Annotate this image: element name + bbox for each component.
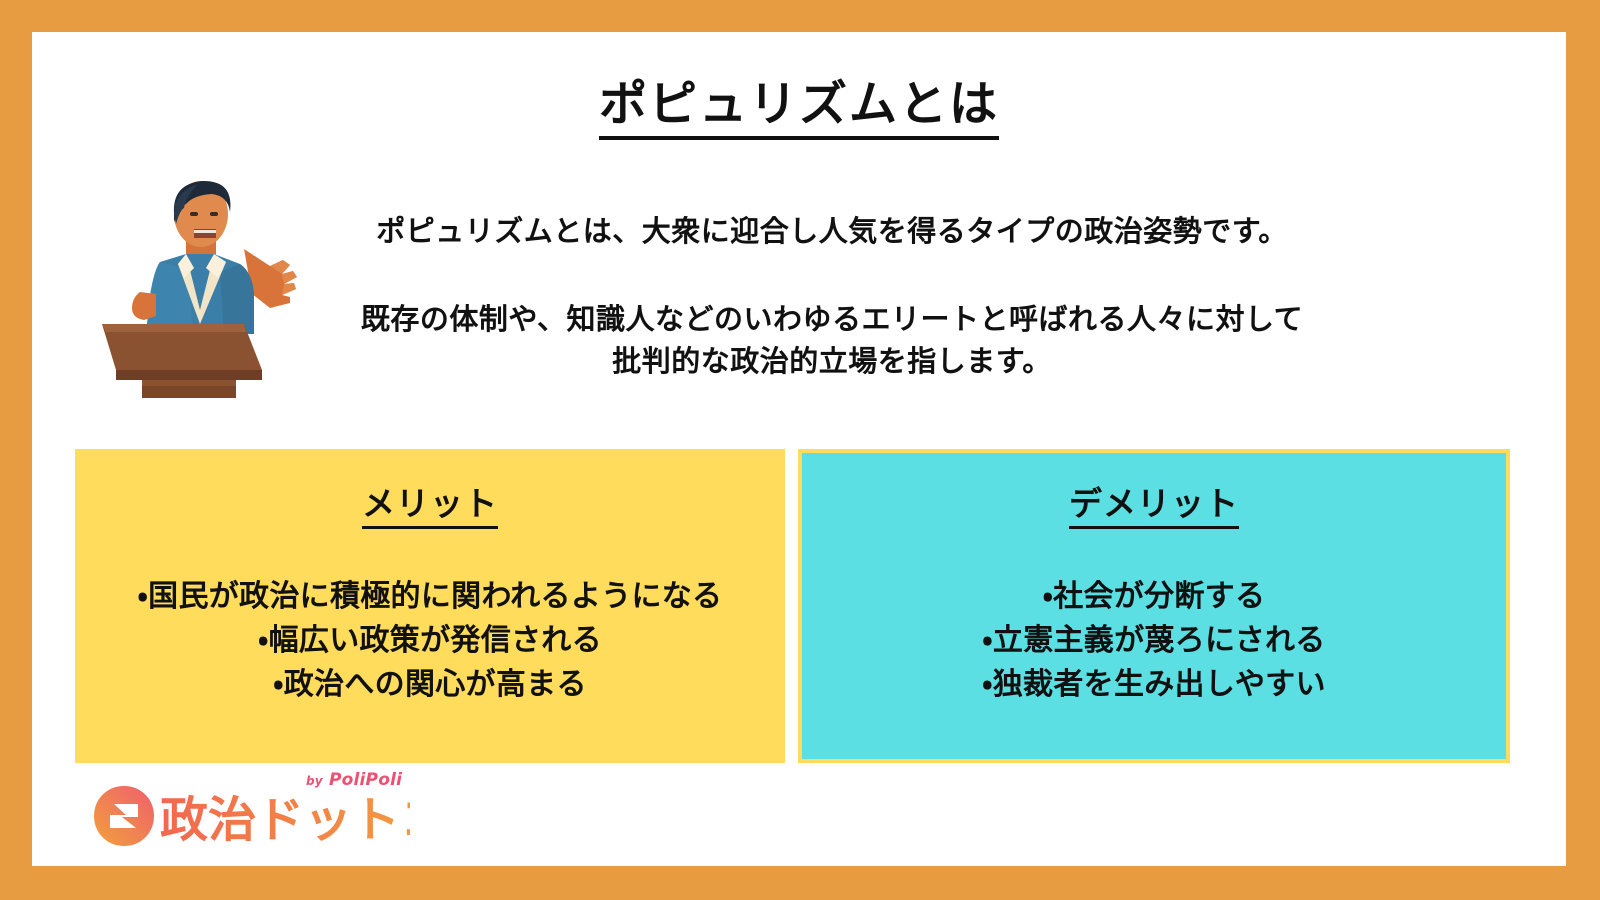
card-demerit-heading-text: デメリット bbox=[1069, 487, 1239, 529]
slide-root: ポピュリズムとは ポピュリズムとは、大衆に迎合し人気を得るタイプの政治姿勢です。… bbox=[0, 0, 1600, 900]
card-merit: メリット ・国民が政治に積極的に関われるようになる ・幅広い政策が発信される ・… bbox=[75, 449, 785, 763]
page-title-text: ポピュリズムとは bbox=[599, 80, 999, 140]
logo-wordmark: 政治ドットコム bbox=[160, 784, 410, 848]
polipoli-mark-icon bbox=[92, 784, 156, 848]
site-logo[interactable]: 政治ドットコム by PoliPoli bbox=[60, 758, 420, 858]
logo-byline: by PoliPoli bbox=[306, 770, 402, 790]
intro-paragraph-2-line-1: 既存の体制や、知識人などのいわゆるエリートと呼ばれる人々に対して bbox=[282, 298, 1382, 340]
intro-paragraph-1: ポピュリズムとは、大衆に迎合し人気を得るタイプの政治姿勢です。 bbox=[282, 210, 1382, 252]
politician-at-podium-illustration bbox=[94, 174, 332, 402]
intro-paragraph-2: 既存の体制や、知識人などのいわゆるエリートと呼ばれる人々に対して 批判的な政治的… bbox=[282, 298, 1382, 382]
page-title: ポピュリズムとは bbox=[32, 80, 1566, 140]
slide-canvas: ポピュリズムとは ポピュリズムとは、大衆に迎合し人気を得るタイプの政治姿勢です。… bbox=[32, 32, 1566, 866]
card-merit-heading: メリット bbox=[75, 487, 785, 529]
card-demerit-heading: デメリット bbox=[798, 487, 1510, 529]
card-merit-heading-text: メリット bbox=[362, 487, 498, 529]
card-demerit-list: ・社会が分断する ・立憲主義が蔑ろにされる ・独裁者を生み出しやすい bbox=[798, 575, 1510, 707]
list-item: ・独裁者を生み出しやすい bbox=[798, 663, 1510, 707]
intro-paragraph-2-line-2: 批判的な政治的立場を指します。 bbox=[282, 340, 1382, 382]
list-item: ・国民が政治に積極的に関われるようになる bbox=[75, 575, 785, 619]
logo-wordmark-text: 政治ドットコム bbox=[160, 792, 410, 848]
list-item: ・社会が分断する bbox=[798, 575, 1510, 619]
list-item: ・立憲主義が蔑ろにされる bbox=[798, 619, 1510, 663]
card-merit-list: ・国民が政治に積極的に関われるようになる ・幅広い政策が発信される ・政治への関… bbox=[75, 575, 785, 707]
list-item: ・政治への関心が高まる bbox=[75, 663, 785, 707]
card-demerit: デメリット ・社会が分断する ・立憲主義が蔑ろにされる ・独裁者を生み出しやすい bbox=[798, 449, 1510, 763]
logo-byline-prefix: by bbox=[306, 774, 323, 788]
logo-byline-brand: PoliPoli bbox=[329, 770, 402, 790]
list-item: ・幅広い政策が発信される bbox=[75, 619, 785, 663]
